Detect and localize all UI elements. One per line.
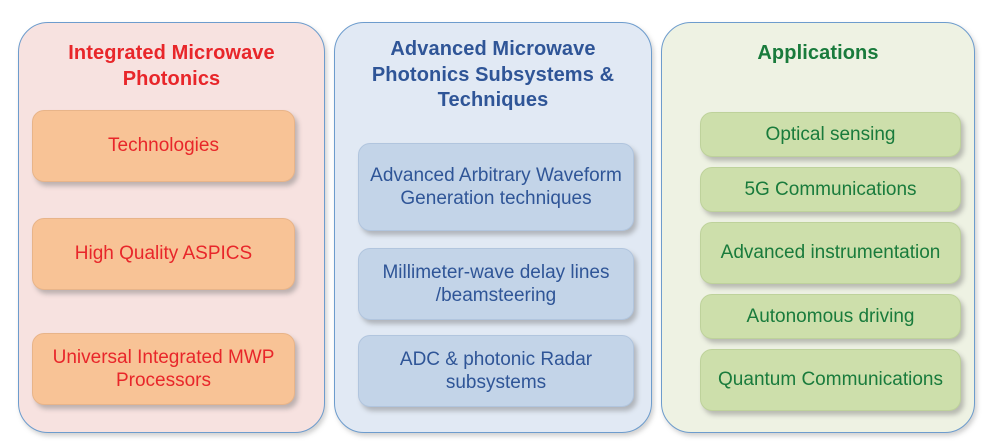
item-label: Autonomous driving	[747, 305, 915, 328]
diagram-canvas: Integrated Microwave Photonics Technolog…	[0, 0, 988, 444]
item-label: Optical sensing	[766, 123, 896, 146]
item-label: ADC & photonic Radar subsystems	[359, 348, 633, 394]
item-advanced-instrumentation[interactable]: Advanced instrumentation	[700, 222, 961, 284]
item-adc-photonic-radar-subsystems[interactable]: ADC & photonic Radar subsystems	[358, 335, 634, 407]
panel-title-applications: Applications	[662, 23, 974, 67]
item-label: Technologies	[108, 134, 219, 157]
item-technologies[interactable]: Technologies	[32, 110, 295, 182]
panel-title-advanced-microwave-photonics-subsystems: Advanced Microwave Photonics Subsystems …	[335, 23, 651, 114]
item-label: Millimeter-wave delay lines /beamsteerin…	[359, 261, 633, 307]
item-label: Quantum Communications	[718, 368, 943, 391]
item-label: 5G Communications	[744, 178, 916, 201]
item-autonomous-driving[interactable]: Autonomous driving	[700, 294, 961, 339]
item-label: High Quality ASPICS	[75, 242, 252, 265]
item-5g-communications[interactable]: 5G Communications	[700, 167, 961, 212]
item-optical-sensing[interactable]: Optical sensing	[700, 112, 961, 157]
item-label: Advanced instrumentation	[721, 241, 941, 264]
item-universal-integrated-mwp-processors[interactable]: Universal Integrated MWP Processors	[32, 333, 295, 405]
item-advanced-arbitrary-waveform-generation-techniques[interactable]: Advanced Arbitrary Waveform Generation t…	[358, 143, 634, 231]
item-label: Universal Integrated MWP Processors	[33, 346, 294, 392]
panel-title-integrated-microwave-photonics: Integrated Microwave Photonics	[19, 23, 324, 92]
item-quantum-communications[interactable]: Quantum Communications	[700, 349, 961, 411]
item-label: Advanced Arbitrary Waveform Generation t…	[359, 164, 633, 210]
item-millimeter-wave-delay-lines-beamsteering[interactable]: Millimeter-wave delay lines /beamsteerin…	[358, 248, 634, 320]
item-high-quality-aspics[interactable]: High Quality ASPICS	[32, 218, 295, 290]
